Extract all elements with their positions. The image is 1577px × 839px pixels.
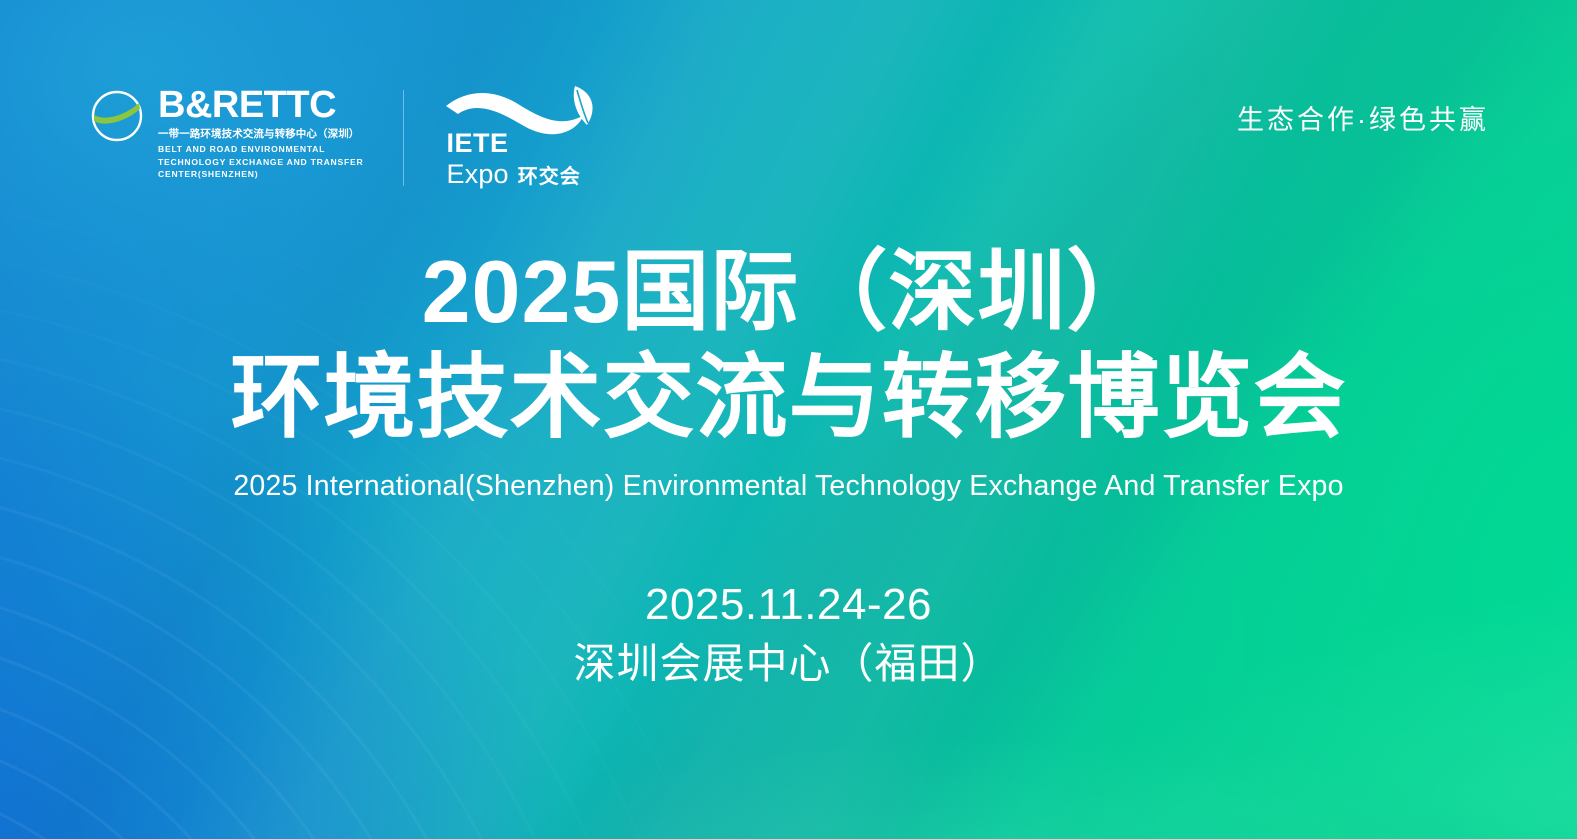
brettc-english-line-1: BELT AND ROAD ENVIRONMENTAL — [158, 143, 363, 155]
brettc-english-line-2: TECHNOLOGY EXCHANGE AND TRANSFER — [158, 156, 363, 168]
brettc-english-block: BELT AND ROAD ENVIRONMENTAL TECHNOLOGY E… — [158, 143, 363, 180]
brettc-chinese-name: 一带一路环境技术交流与转移中心（深圳） — [158, 128, 363, 141]
banner-main: 2025国际（深圳） 环境技术交流与转移博览会 2025 Internation… — [0, 248, 1577, 692]
iete-chinese-short: 环交会 — [518, 167, 581, 187]
brettc-wordmark: B&RETTC — [158, 86, 363, 124]
brettc-english-line-3: CENTER(SHENZHEN) — [158, 168, 363, 180]
banner-tagline: 生态合作·绿色共赢 — [1237, 98, 1489, 137]
brettc-text-block: B&RETTC 一带一路环境技术交流与转移中心（深圳） BELT AND ROA… — [158, 86, 363, 180]
english-subtitle: 2025 International(Shenzhen) Environment… — [0, 470, 1577, 503]
title-line-2: 环境技术交流与转移博览会 — [0, 352, 1577, 444]
iete-expo-logo: IETE Expo 环交会 — [444, 84, 604, 184]
iete-subline: Expo 环交会 — [446, 161, 580, 188]
title-line-1: 2025国际（深圳） — [0, 248, 1577, 336]
globe-circle-icon — [88, 89, 146, 148]
event-venue: 深圳会展中心（福田） — [0, 637, 1577, 692]
event-meta: 2025.11.24-26 深圳会展中心（福田） — [0, 579, 1577, 692]
iete-acronym: IETE — [446, 130, 580, 157]
iete-expo-word: Expo — [446, 161, 508, 188]
iete-text-block: IETE Expo 环交会 — [446, 130, 580, 188]
brettc-logo: B&RETTC 一带一路环境技术交流与转移中心（深圳） BELT AND ROA… — [88, 84, 363, 180]
event-banner: B&RETTC 一带一路环境技术交流与转移中心（深圳） BELT AND ROA… — [0, 0, 1577, 839]
logo-divider — [403, 90, 404, 186]
banner-header: B&RETTC 一带一路环境技术交流与转移中心（深圳） BELT AND ROA… — [88, 84, 1489, 196]
logo-group: B&RETTC 一带一路环境技术交流与转移中心（深圳） BELT AND ROA… — [88, 84, 604, 186]
event-date: 2025.11.24-26 — [0, 579, 1577, 631]
